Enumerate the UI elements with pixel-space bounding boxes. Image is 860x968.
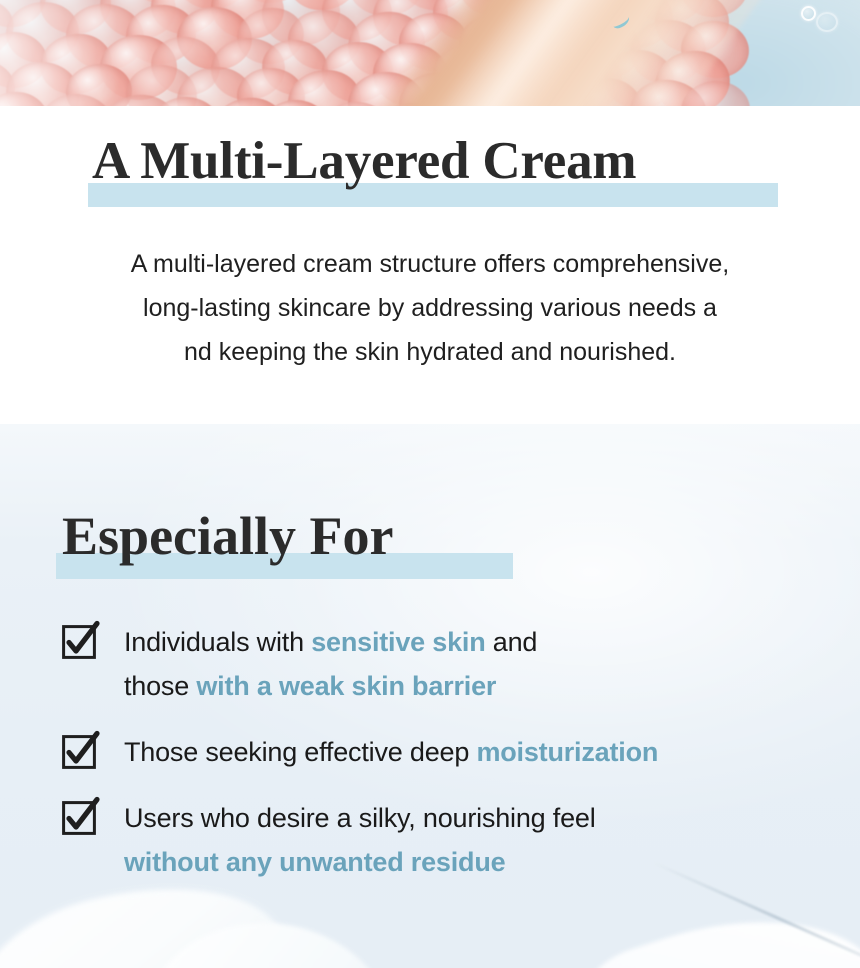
bubble-ring-icon <box>816 12 838 32</box>
accent-phrase: with a weak skin barrier <box>196 671 496 701</box>
section-heading-block: Especially For <box>56 509 393 579</box>
bubble-ring-icon <box>801 6 816 21</box>
checklist-item-line: without any unwanted residue <box>124 840 596 884</box>
page-title: A Multi-Layered Cream <box>88 135 636 188</box>
checklist-item-line: Users who desire a silky, nourishing fee… <box>124 796 596 840</box>
product-shape-right <box>537 878 860 968</box>
checklist-item-line: those with a weak skin barrier <box>124 664 537 708</box>
product-hero-image <box>0 0 860 106</box>
hero-left-fade <box>0 0 210 106</box>
checklist-item-text: Users who desire a silky, nourishing fee… <box>124 796 596 884</box>
plain-phrase: those <box>124 671 196 701</box>
plain-phrase: Individuals with <box>124 627 311 657</box>
checklist-item-text: Those seeking effective deep moisturizat… <box>124 730 658 774</box>
checklist-item: Users who desire a silky, nourishing fee… <box>62 796 832 884</box>
section-heading: Especially For <box>56 509 393 563</box>
plain-phrase: Those seeking effective deep <box>124 737 476 767</box>
checklist-item: Those seeking effective deep moisturizat… <box>62 730 832 774</box>
benefits-checklist: Individuals with sensitive skin andthose… <box>62 620 832 884</box>
accent-phrase: sensitive skin <box>311 627 485 657</box>
paragraph-line: long-lasting skincare by addressing vari… <box>0 286 860 330</box>
checkbox-checked-icon[interactable] <box>62 735 96 769</box>
accent-phrase: moisturization <box>476 737 658 767</box>
plain-phrase: and <box>486 627 538 657</box>
checklist-item-text: Individuals with sensitive skin andthose… <box>124 620 537 708</box>
accent-phrase: without any unwanted residue <box>124 847 505 877</box>
checkbox-checked-icon[interactable] <box>62 625 96 659</box>
checklist-item: Individuals with sensitive skin andthose… <box>62 620 832 708</box>
product-detail-page: A Multi-Layered Cream A multi-layered cr… <box>0 0 860 968</box>
plain-phrase: Users who desire a silky, nourishing fee… <box>124 803 596 833</box>
checklist-item-line: Those seeking effective deep moisturizat… <box>124 730 658 774</box>
especially-for-section: Especially For Individuals with sensitiv… <box>0 424 860 968</box>
intro-section: A Multi-Layered Cream A multi-layered cr… <box>0 106 860 424</box>
page-title-block: A Multi-Layered Cream <box>88 135 636 209</box>
paragraph-line: nd keeping the skin hydrated and nourish… <box>0 330 860 374</box>
checkbox-checked-icon[interactable] <box>62 801 96 835</box>
checklist-item-line: Individuals with sensitive skin and <box>124 620 537 664</box>
intro-paragraph: A multi-layered cream structure offers c… <box>0 242 860 374</box>
paragraph-line: A multi-layered cream structure offers c… <box>0 242 860 286</box>
